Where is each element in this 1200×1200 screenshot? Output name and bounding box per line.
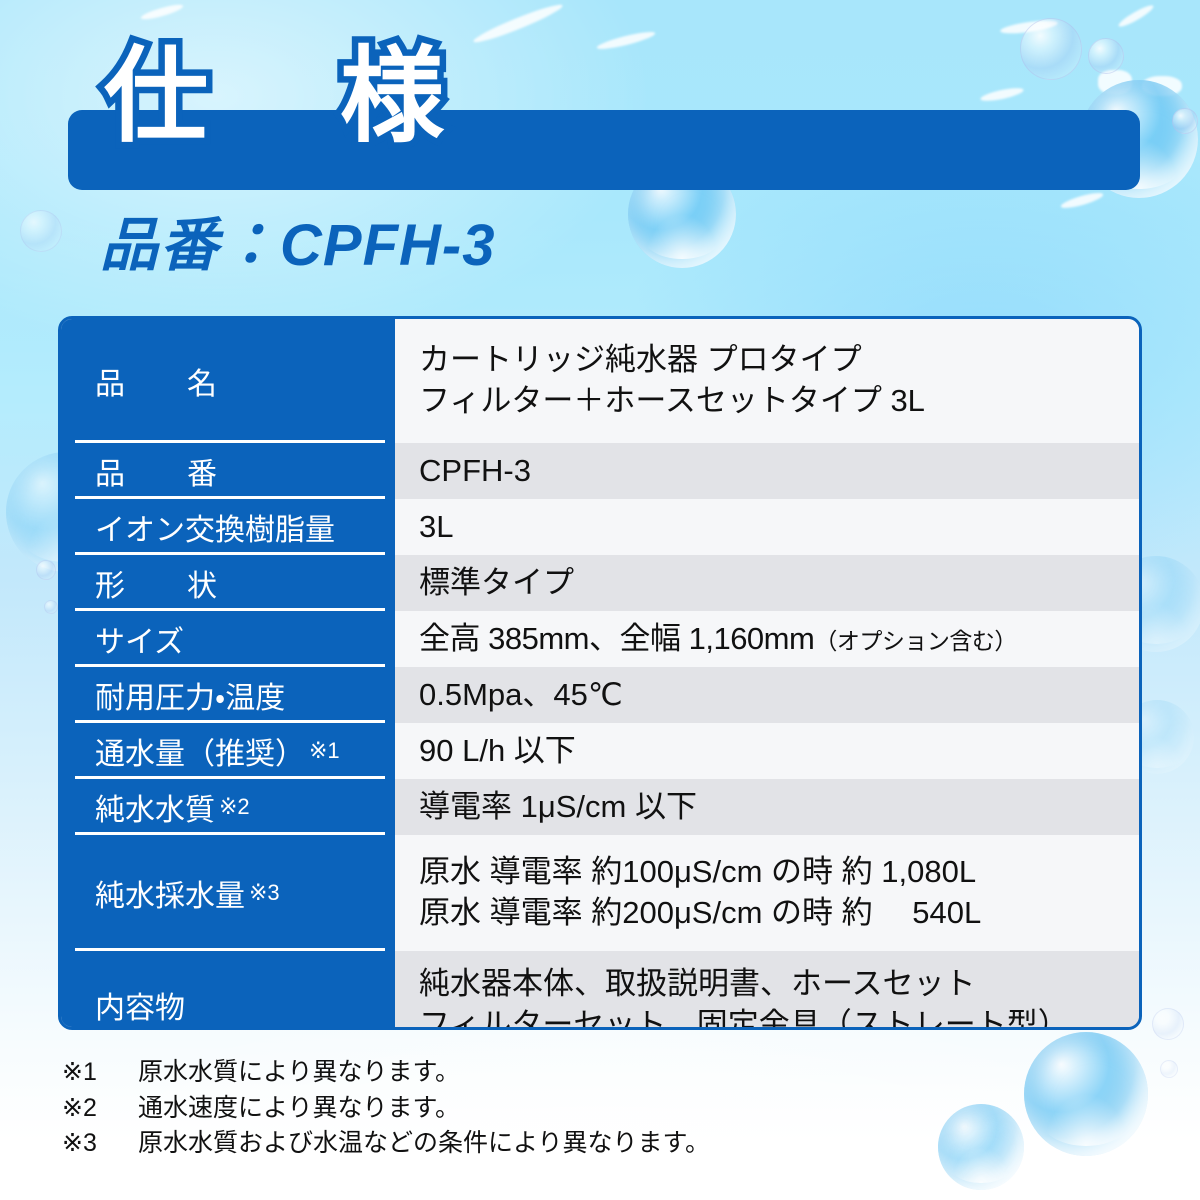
- row-label: 内容物: [95, 983, 185, 1027]
- footnote-mark: ※3: [62, 1126, 138, 1162]
- row-value-cell: 標準タイプ: [395, 555, 1139, 611]
- row-label-cell: 内容物: [61, 951, 395, 1030]
- row-label: 純水採水量: [95, 871, 245, 915]
- bubble-decoration-small: [44, 600, 58, 614]
- footnote-text: 通水速度により異なります。: [138, 1094, 460, 1122]
- row-label-cell: イオン交換樹脂量: [61, 499, 395, 555]
- bubble-decoration: [1024, 1032, 1148, 1156]
- row-value-cell: カートリッジ純水器 プロタイプ フィルター＋ホースセットタイプ 3L: [395, 319, 1139, 443]
- row-value-line: 全高 385mm、全幅 1,160mm（オプション含む）: [419, 619, 1139, 660]
- footnotes: ※1原水水質により異なります。 ※2通水速度により異なります。 ※3原水水質およ…: [62, 1055, 710, 1162]
- model-number-line: 品番：CPFH-3: [100, 216, 495, 275]
- table-row: 品 名 カートリッジ純水器 プロタイプ フィルター＋ホースセットタイプ 3L: [61, 319, 1139, 443]
- row-value-cell: 0.5Mpa、45℃: [395, 667, 1139, 723]
- row-value-line: CPFH-3: [419, 451, 1139, 492]
- table-row: 通水量（推奨）※1 90 L/h 以下: [61, 723, 1139, 779]
- row-value-cell: CPFH-3: [395, 443, 1139, 499]
- spec-sheet-page: 仕 様 品番：CPFH-3 品 名 カートリッジ純水器 プロタイプ フィルター＋…: [0, 0, 1200, 1200]
- row-value-suffix: （オプション含む）: [814, 628, 1017, 654]
- row-label-footnote-mark: ※2: [219, 794, 250, 820]
- table-row: サイズ 全高 385mm、全幅 1,160mm（オプション含む）: [61, 611, 1139, 667]
- row-label-footnote-mark: ※3: [249, 880, 280, 906]
- row-value-line: フィルターセット、固定金具（ストレート型）: [419, 1005, 1139, 1030]
- table-row: イオン交換樹脂量 3L: [61, 499, 1139, 555]
- row-label-cell: 純水採水量※3: [61, 835, 395, 951]
- row-label-cell: 通水量（推奨）※1: [61, 723, 395, 779]
- footnote-text: 原水水質により異なります。: [138, 1058, 460, 1086]
- row-label: サイズ: [95, 617, 184, 661]
- row-value-cell: 全高 385mm、全幅 1,160mm（オプション含む）: [395, 611, 1139, 667]
- table-row: 純水水質※2 導電率 1μS/cm 以下: [61, 779, 1139, 835]
- row-value-line: 標準タイプ: [419, 563, 1139, 604]
- bubble-decoration-small: [1020, 18, 1082, 80]
- footnote-mark: ※2: [62, 1091, 138, 1127]
- table-row: 内容物 純水器本体、取扱説明書、ホースセット フィルターセット、固定金具（ストレ…: [61, 951, 1139, 1030]
- footnote-item: ※1原水水質により異なります。: [62, 1055, 710, 1091]
- row-value-cell: 90 L/h 以下: [395, 723, 1139, 779]
- page-title: 仕 様: [104, 44, 458, 148]
- table-row: 品 番 CPFH-3: [61, 443, 1139, 499]
- row-label: 純水水質: [95, 785, 215, 829]
- row-value-line: 3L: [419, 507, 1139, 548]
- row-value-cell: 導電率 1μS/cm 以下: [395, 779, 1139, 835]
- row-label-footnote-mark: ※1: [309, 738, 340, 764]
- row-value-line: 原水 導電率 約200μS/cm の時 約 540L: [419, 893, 1139, 934]
- row-label-cell: サイズ: [61, 611, 395, 667]
- row-label-cell: 純水水質※2: [61, 779, 395, 835]
- row-label-cell: 耐用圧力・温度: [61, 667, 395, 723]
- model-number-value: CPFH-3: [280, 213, 495, 278]
- row-label-cell: 品 名: [61, 319, 395, 443]
- row-value-line: カートリッジ純水器 プロタイプ: [419, 340, 1139, 381]
- row-value-cell: 3L: [395, 499, 1139, 555]
- row-label: 品 名: [95, 359, 233, 403]
- row-value-cell: 原水 導電率 約100μS/cm の時 約 1,080L 原水 導電率 約200…: [395, 835, 1139, 951]
- row-value-line: フィルター＋ホースセットタイプ 3L: [419, 381, 1139, 422]
- bubble-decoration-small: [1152, 1008, 1184, 1040]
- row-label: 形 状: [95, 561, 233, 605]
- model-number-label: 品番：: [100, 211, 280, 279]
- row-label-cell: 形 状: [61, 555, 395, 611]
- row-label: イオン交換樹脂量: [95, 505, 335, 549]
- footnote-item: ※2通水速度により異なります。: [62, 1091, 710, 1127]
- row-value-line: 90 L/h 以下: [419, 731, 1139, 772]
- bubble-decoration-small: [1160, 1060, 1178, 1078]
- table-row: 形 状 標準タイプ: [61, 555, 1139, 611]
- row-label: 通水量（推奨）: [95, 729, 305, 773]
- footnote-item: ※3原水水質および水温などの条件により異なります。: [62, 1126, 710, 1162]
- bubble-decoration: [938, 1104, 1024, 1190]
- bubble-decoration-small: [1172, 108, 1198, 134]
- row-value-cell: 純水器本体、取扱説明書、ホースセット フィルターセット、固定金具（ストレート型）: [395, 951, 1139, 1030]
- row-value-line: 純水器本体、取扱説明書、ホースセット: [419, 964, 1139, 1005]
- row-value-line: 原水 導電率 約100μS/cm の時 約 1,080L: [419, 852, 1139, 893]
- table-row: 純水採水量※3 原水 導電率 約100μS/cm の時 約 1,080L 原水 …: [61, 835, 1139, 951]
- row-value-line: 0.5Mpa、45℃: [419, 675, 1139, 716]
- table-row: 耐用圧力・温度 0.5Mpa、45℃: [61, 667, 1139, 723]
- footnote-text: 原水水質および水温などの条件により異なります。: [138, 1129, 710, 1157]
- row-label-cell: 品 番: [61, 443, 395, 499]
- row-value-line: 導電率 1μS/cm 以下: [419, 787, 1139, 828]
- row-value-main: 全高 385mm、全幅 1,160mm: [419, 621, 814, 656]
- row-label: 耐用圧力・温度: [95, 673, 285, 717]
- row-label: 品 番: [95, 449, 233, 493]
- bubble-decoration-small: [36, 560, 56, 580]
- bubble-decoration-small: [20, 210, 62, 252]
- bubble-decoration-small: [1088, 38, 1124, 74]
- specification-table: 品 名 カートリッジ純水器 プロタイプ フィルター＋ホースセットタイプ 3L 品…: [58, 316, 1142, 1030]
- footnote-mark: ※1: [62, 1055, 138, 1091]
